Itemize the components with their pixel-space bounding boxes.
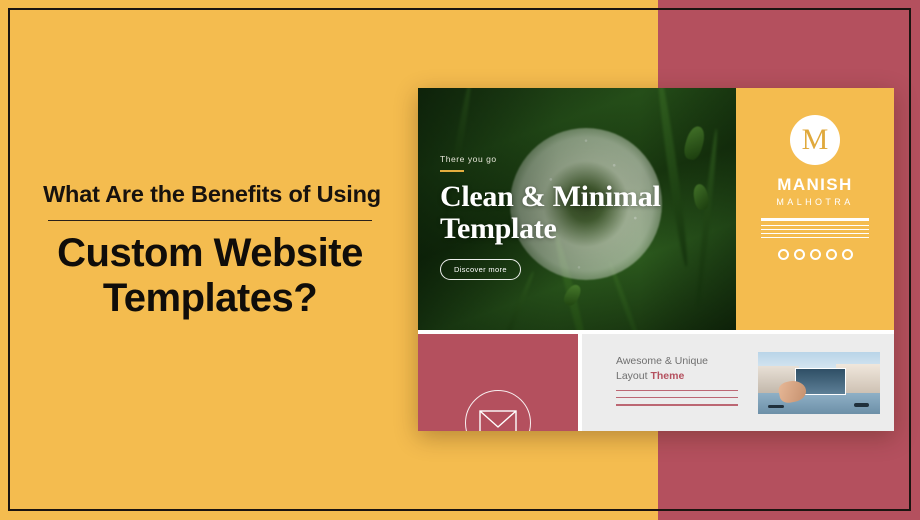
hero-content: There you go Clean & Minimal Template Di… <box>440 154 661 280</box>
card-top-row: There you go Clean & Minimal Template Di… <box>418 88 894 330</box>
ring-dot <box>778 249 789 260</box>
brand-decorative-lines <box>761 218 869 238</box>
brand-name: MANISH <box>736 175 894 195</box>
info-heading: Awesome & Unique Layout Theme <box>616 354 746 384</box>
headline-line-3: Templates? <box>0 276 420 321</box>
ring-dot <box>794 249 805 260</box>
info-heading-line-2-plain: Layout <box>616 370 650 382</box>
venice-photo <box>758 352 880 414</box>
hero-section: There you go Clean & Minimal Template Di… <box>418 88 736 330</box>
monogram-letter: M <box>802 125 829 155</box>
template-preview-card[interactable]: There you go Clean & Minimal Template Di… <box>418 88 894 431</box>
hero-eyebrow-rule <box>440 170 464 172</box>
ring-dot <box>842 249 853 260</box>
ring-dot <box>810 249 821 260</box>
info-heading-line-1: Awesome & Unique <box>616 355 708 367</box>
card-bottom-row: Awesome & Unique Layout Theme <box>418 334 894 431</box>
brand-subname: MALHOTRA <box>736 197 894 207</box>
headline-block: What Are the Benefits of Using Custom We… <box>0 180 420 321</box>
headline-divider <box>48 220 372 221</box>
brand-dot-row <box>736 249 894 260</box>
brand-sidebar: M MANISH MALHOTRA <box>736 88 894 330</box>
info-decorative-lines <box>616 390 738 412</box>
hero-title-line-2: Template <box>440 213 661 245</box>
discover-more-button[interactable]: Discover more <box>440 259 521 280</box>
mail-panel <box>418 334 578 431</box>
monogram-logo: M <box>790 115 840 165</box>
headline-line-1: What Are the Benefits of Using <box>0 180 420 208</box>
slide-canvas: What Are the Benefits of Using Custom We… <box>0 0 920 520</box>
info-panel: Awesome & Unique Layout Theme <box>582 334 894 431</box>
info-heading-accent: Theme <box>650 370 684 382</box>
hero-eyebrow: There you go <box>440 154 661 164</box>
envelope-icon <box>479 410 517 431</box>
headline-line-2: Custom Website <box>0 231 420 276</box>
hero-title-line-1: Clean & Minimal <box>440 181 661 213</box>
ring-dot <box>826 249 837 260</box>
